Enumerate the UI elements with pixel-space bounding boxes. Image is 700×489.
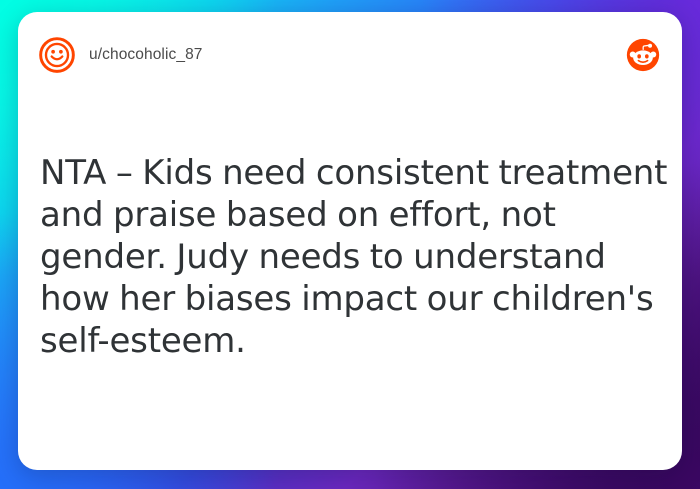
smiley-face-avatar-icon[interactable] — [38, 36, 76, 74]
username-label: u/chocoholic_87 — [89, 46, 203, 64]
post-body-text: NTA – Kids need consistent treatment and… — [40, 152, 668, 362]
screenshot-root: u/chocoholic_87 NTA – Kids need consiste… — [0, 0, 700, 489]
post-card-header: u/chocoholic_87 — [18, 12, 682, 98]
post-card: u/chocoholic_87 NTA – Kids need consiste… — [18, 12, 682, 470]
reddit-snoo-icon[interactable] — [626, 38, 660, 72]
